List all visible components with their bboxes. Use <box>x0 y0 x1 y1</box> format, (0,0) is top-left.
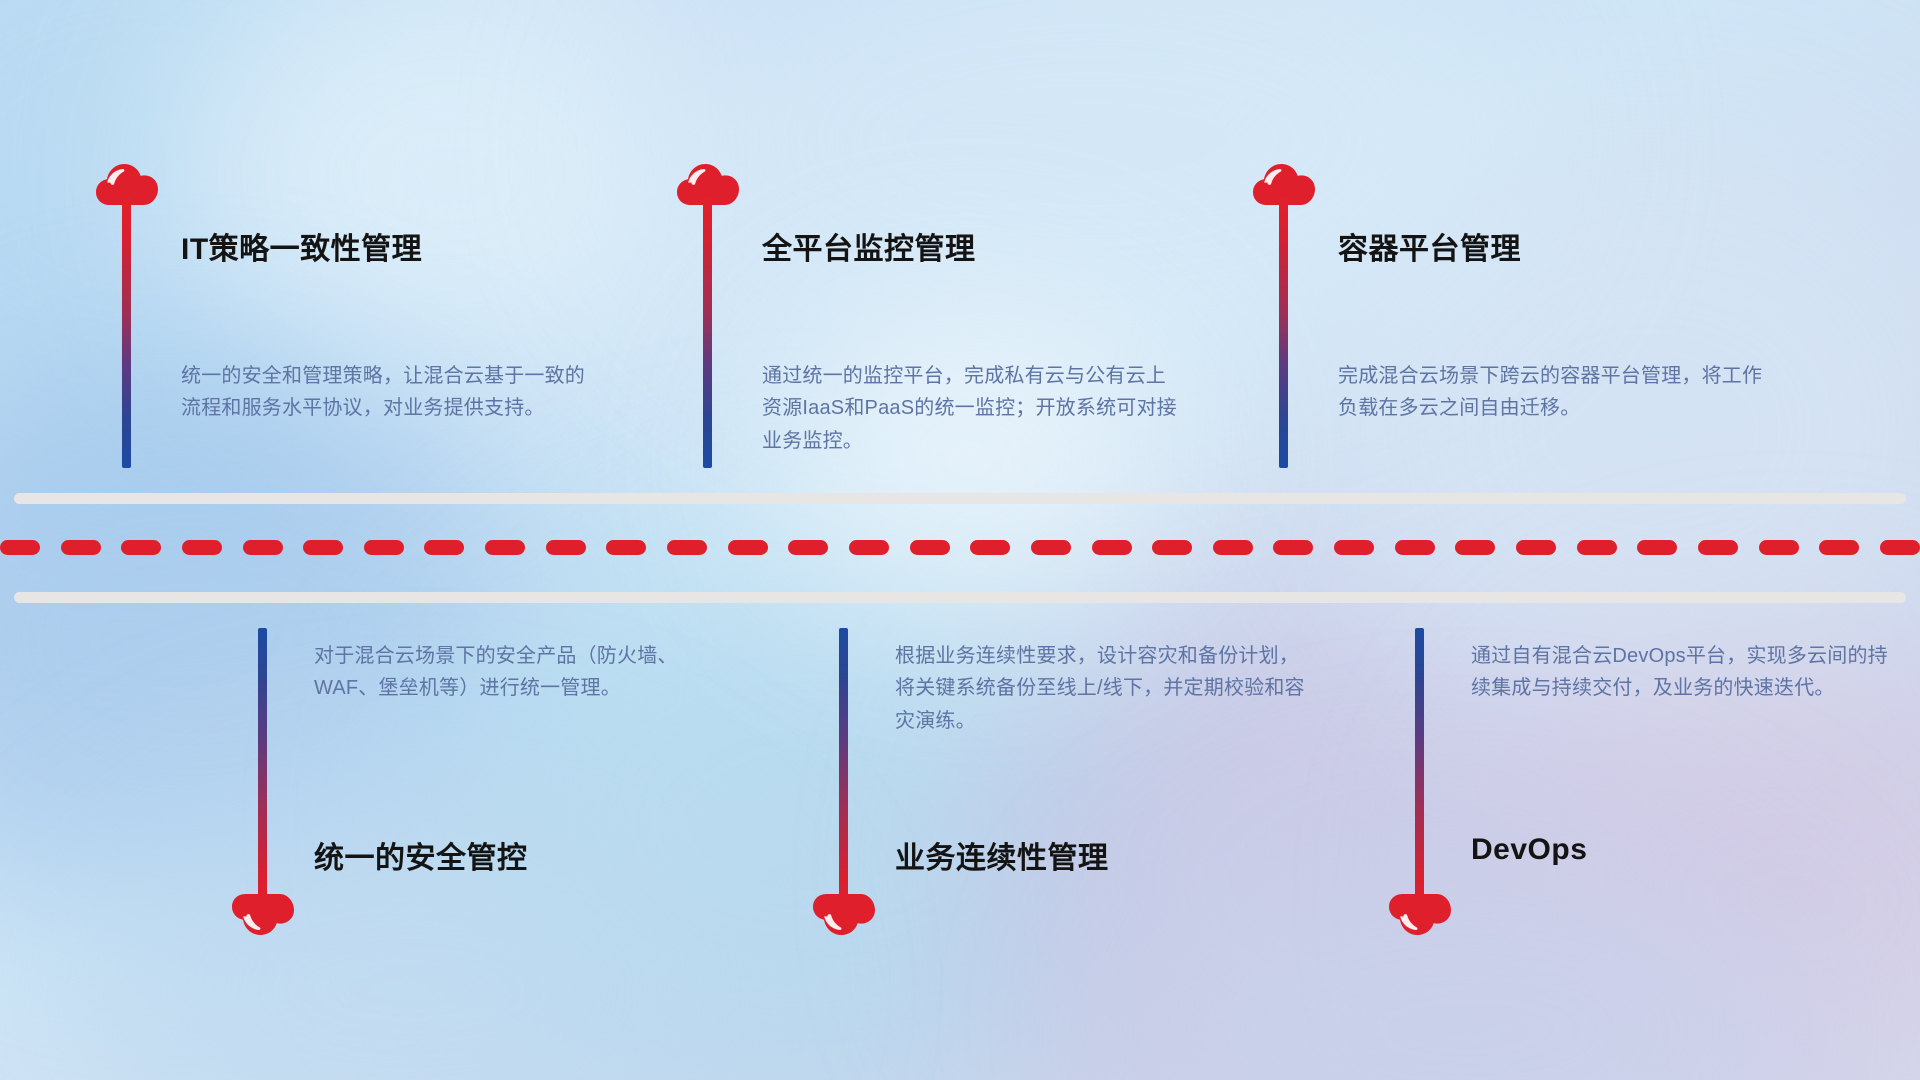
divider-dash <box>1092 540 1132 555</box>
feature-description: 统一的安全和管理策略，让混合云基于一致的流程和服务水平协议，对业务提供支持。 <box>181 360 601 425</box>
feature-title: 全平台监控管理 <box>762 224 976 268</box>
connector-stem <box>703 198 712 468</box>
feature-title: 统一的安全管控 <box>314 833 528 877</box>
feature-title: IT策略一致性管理 <box>181 224 422 268</box>
divider-dash <box>788 540 828 555</box>
feature-description: 对于混合云场景下的安全产品（防火墙、WAF、堡垒机等）进行统一管理。 <box>314 640 734 705</box>
divider-dash <box>1031 540 1071 555</box>
connector-stem <box>258 628 267 918</box>
connector-stem <box>1415 628 1424 918</box>
divider-dash <box>970 540 1010 555</box>
infographic-canvas: IT策略一致性管理 统一的安全和管理策略，让混合云基于一致的流程和服务水平协议，… <box>0 0 1920 1080</box>
divider-dash <box>546 540 586 555</box>
divider-dash <box>1819 540 1859 555</box>
divider-dash <box>182 540 222 555</box>
divider-dash <box>303 540 343 555</box>
divider-dash <box>1273 540 1313 555</box>
feature-description: 通过自有混合云DevOps平台，实现多云间的持续集成与持续交付，及业务的快速迭代… <box>1471 640 1891 705</box>
divider-dash <box>1637 540 1677 555</box>
divider-line-lower <box>14 592 1906 603</box>
divider-dash <box>0 540 40 555</box>
divider-dash <box>606 540 646 555</box>
connector-stem <box>1279 198 1288 468</box>
divider-dash <box>364 540 404 555</box>
divider-dash <box>728 540 768 555</box>
divider-dash <box>1152 540 1192 555</box>
connector-stem <box>122 198 131 468</box>
divider-dashed-line <box>0 540 1920 555</box>
feature-description: 根据业务连续性要求，设计容灾和备份计划，将关键系统备份至线上/线下，并定期校验和… <box>895 640 1315 737</box>
cloud-icon <box>811 893 877 941</box>
divider-dash <box>1213 540 1253 555</box>
divider-dash <box>1759 540 1799 555</box>
divider-dash <box>667 540 707 555</box>
divider-dash <box>121 540 161 555</box>
divider-dash <box>485 540 525 555</box>
connector-stem <box>839 628 848 918</box>
divider-dash <box>849 540 889 555</box>
feature-title: 业务连续性管理 <box>895 833 1109 877</box>
divider-dash <box>910 540 950 555</box>
feature-title: DevOps <box>1471 833 1587 867</box>
divider-dash <box>61 540 101 555</box>
divider-dash <box>1577 540 1617 555</box>
divider-dash <box>424 540 464 555</box>
background-blob <box>760 300 1180 620</box>
divider-dash <box>1698 540 1738 555</box>
cloud-icon <box>1387 893 1453 941</box>
divider-dash <box>1334 540 1374 555</box>
divider-dash <box>243 540 283 555</box>
divider-dash <box>1395 540 1435 555</box>
cloud-icon <box>230 893 296 941</box>
divider-line-upper <box>14 493 1906 504</box>
divider-dash <box>1455 540 1495 555</box>
divider-dash <box>1880 540 1920 555</box>
divider-dash <box>1516 540 1556 555</box>
feature-description: 通过统一的监控平台，完成私有云与公有云上资源IaaS和PaaS的统一监控；开放系… <box>762 360 1182 457</box>
feature-title: 容器平台管理 <box>1338 224 1521 268</box>
feature-description: 完成混合云场景下跨云的容器平台管理，将工作负载在多云之间自由迁移。 <box>1338 360 1768 425</box>
